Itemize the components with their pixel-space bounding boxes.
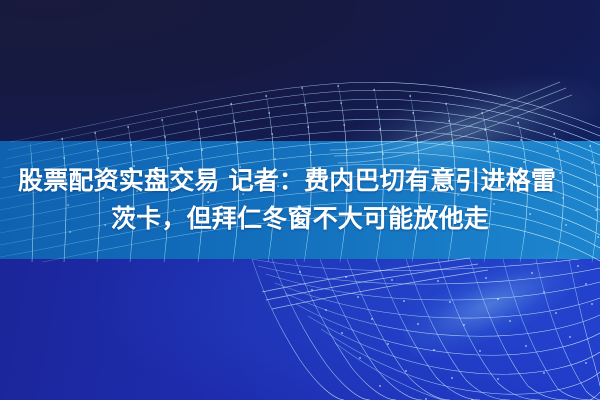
background-top-dark-zone	[0, 0, 600, 141]
headline-line-1: 股票配资实盘交易 记者：费内巴切有意引进格雷	[14, 162, 556, 200]
background-bottom-blue-zone	[0, 259, 600, 400]
headline-text-block: 股票配资实盘交易 记者：费内巴切有意引进格雷 茨卡，但拜仁冬窗不大可能放他走	[0, 141, 600, 259]
headline-line-2: 茨卡，但拜仁冬窗不大可能放他走	[111, 200, 489, 238]
news-banner-image: 股票配资实盘交易 记者：费内巴切有意引进格雷 茨卡，但拜仁冬窗不大可能放他走	[0, 0, 600, 400]
